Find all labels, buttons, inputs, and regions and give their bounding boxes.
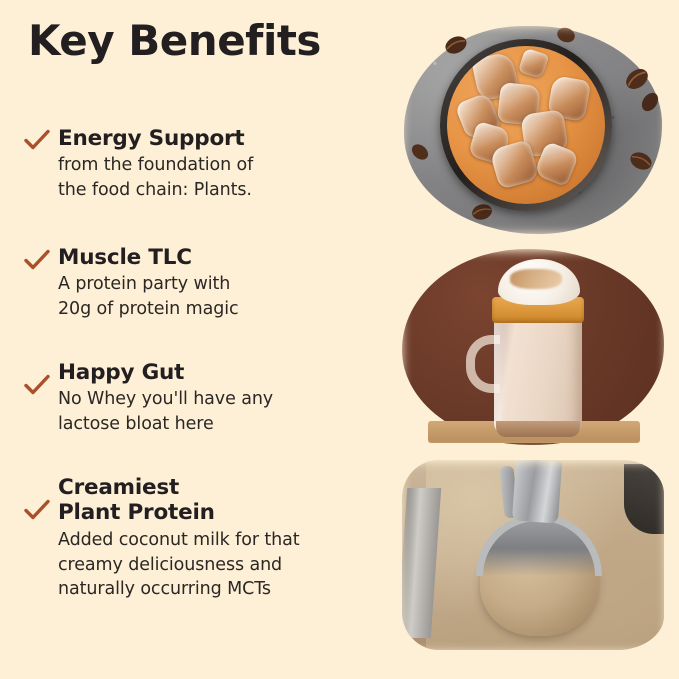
benefit-title: Creamiest Plant Protein <box>58 475 384 526</box>
benefit-item: Creamiest Plant Protein Added coconut mi… <box>24 475 384 602</box>
benefit-title: Energy Support <box>58 126 384 151</box>
iced-coffee-liquid <box>447 46 605 204</box>
scooper-handle <box>512 460 562 524</box>
iced-coffee-photo <box>398 22 670 238</box>
mason-jar-shake-photo <box>398 247 670 453</box>
benefit-description: Added coconut milk for that creamy delic… <box>58 528 384 603</box>
jar-base <box>496 421 580 437</box>
caramel-drizzle <box>510 269 562 289</box>
key-benefits-infographic: Key Benefits Energy Support from the fou… <box>0 0 679 679</box>
glass-rim <box>440 39 612 211</box>
benefit-description: No Whey you'll have any lactose bloat he… <box>58 387 384 437</box>
benefits-text-column: Key Benefits Energy Support from the fou… <box>0 0 395 679</box>
benefit-title: Muscle TLC <box>58 245 384 270</box>
benefit-description: from the foundation of the food chain: P… <box>58 153 384 203</box>
check-icon <box>24 126 58 151</box>
check-icon <box>24 245 58 271</box>
benefit-body: Energy Support from the foundation of th… <box>58 126 384 203</box>
page-title: Key Benefits <box>28 18 321 64</box>
benefit-item: Muscle TLC A protein party with 20g of p… <box>24 245 384 322</box>
benefit-body: Creamiest Plant Protein Added coconut mi… <box>58 475 384 602</box>
benefit-item: Happy Gut No Whey you'll have any lactos… <box>24 360 384 437</box>
ice-cream-tub <box>402 460 664 650</box>
check-icon <box>24 475 58 521</box>
benefit-item: Energy Support from the foundation of th… <box>24 126 384 203</box>
ice-cream-scoop-photo <box>398 458 670 656</box>
benefit-title: Happy Gut <box>58 360 384 385</box>
benefit-body: Muscle TLC A protein party with 20g of p… <box>58 245 384 322</box>
benefit-description: A protein party with 20g of protein magi… <box>58 272 384 322</box>
mason-jar <box>494 309 582 435</box>
benefit-body: Happy Gut No Whey you'll have any lactos… <box>58 360 384 437</box>
check-icon <box>24 360 58 396</box>
